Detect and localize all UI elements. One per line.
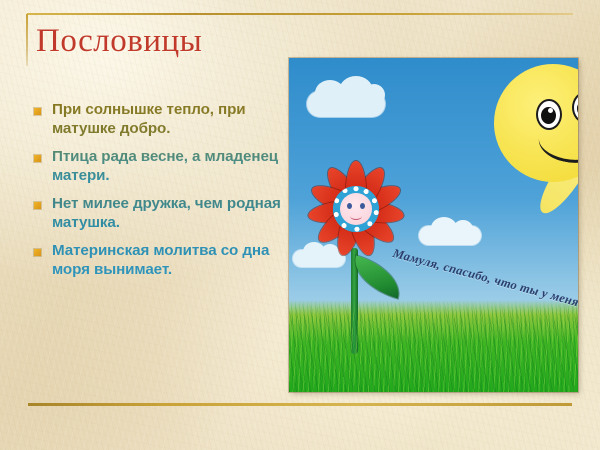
flower-head bbox=[301, 154, 411, 264]
frame-line-top bbox=[27, 13, 573, 15]
sun-eye-right-icon bbox=[572, 92, 578, 123]
grass-blades-texture bbox=[289, 300, 578, 392]
list-item: Материнская молитва со дна моря вынимает… bbox=[34, 241, 284, 279]
square-bullet-icon bbox=[34, 108, 41, 115]
square-bullet-icon bbox=[34, 155, 41, 162]
list-item: Нет милее дружка, чем родная матушка. bbox=[34, 194, 284, 232]
slide-title: Пословицы bbox=[36, 22, 202, 60]
flower-eye-right-icon bbox=[360, 203, 365, 209]
proverb-text: При солнышке тепло, при матушке добро. bbox=[52, 100, 284, 138]
proverb-list: При солнышке тепло, при матушке добро. П… bbox=[34, 100, 284, 288]
cloud-icon bbox=[419, 226, 481, 245]
flower-face bbox=[340, 193, 372, 225]
square-bullet-icon bbox=[34, 202, 41, 209]
list-item: При солнышке тепло, при матушке добро. bbox=[34, 100, 284, 138]
frame-line-left bbox=[26, 14, 28, 66]
sun-smile-icon bbox=[535, 114, 578, 170]
flower-smile-icon bbox=[350, 212, 362, 220]
proverb-text: Нет милее дружка, чем родная матушка. bbox=[52, 194, 284, 232]
flower-eye-left-icon bbox=[347, 203, 352, 209]
square-bullet-icon bbox=[34, 249, 41, 256]
slide-canvas: Пословицы При солнышке тепло, при матушк… bbox=[0, 0, 600, 450]
illustration-image: Мамуля, спасибо, что ты у меня есть! bbox=[289, 58, 578, 392]
proverb-text: Материнская молитва со дна моря вынимает… bbox=[52, 241, 284, 279]
cloud-icon bbox=[307, 91, 385, 117]
proverb-text: Птица рада весне, а младенец матери. bbox=[52, 147, 284, 185]
frame-line-bottom bbox=[28, 403, 572, 406]
list-item: Птица рада весне, а младенец матери. bbox=[34, 147, 284, 185]
